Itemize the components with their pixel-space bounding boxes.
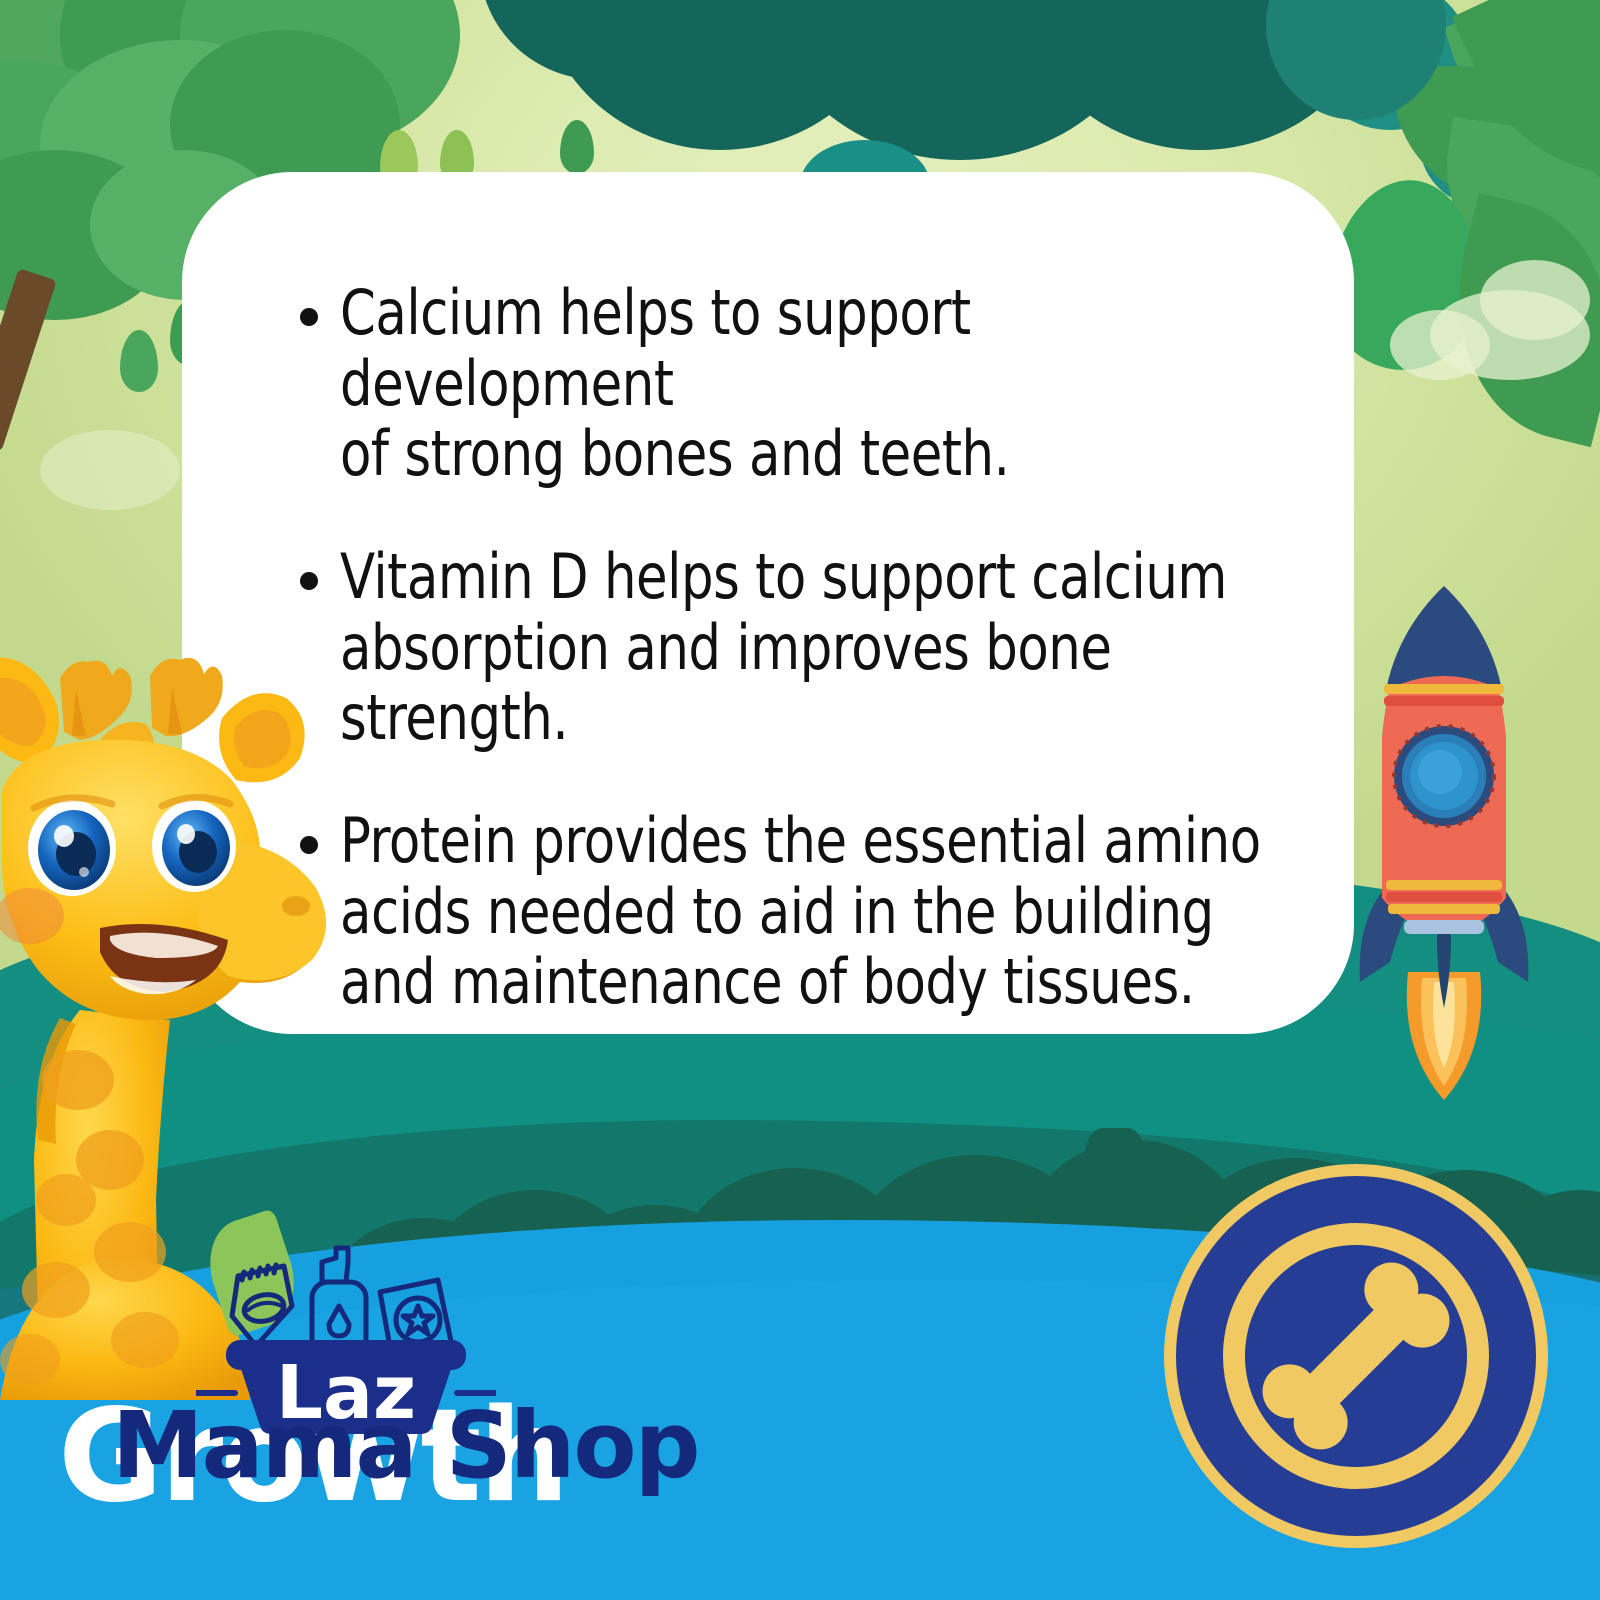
bullet-text-protein: Protein provides the essential amino aci… (340, 806, 1261, 1018)
bone-badge-icon (1158, 1158, 1554, 1554)
mama-shop-wordmark: Mama Shop (112, 1392, 698, 1499)
bullet-dot-icon (300, 308, 318, 326)
bullet-dot-icon (300, 572, 318, 590)
list-item: Calcium helps to support development of … (300, 278, 1380, 490)
bullet-list: Calcium helps to support development of … (300, 278, 1380, 1018)
poster-canvas: Calcium helps to support development of … (0, 0, 1600, 1600)
bullet-text-vitamin-d: Vitamin D helps to support calcium absor… (340, 542, 1227, 754)
bullet-text-calcium: Calcium helps to support development of … (340, 278, 1297, 490)
list-item: Protein provides the essential amino aci… (300, 806, 1380, 1018)
list-item: Vitamin D helps to support calcium absor… (300, 542, 1380, 754)
